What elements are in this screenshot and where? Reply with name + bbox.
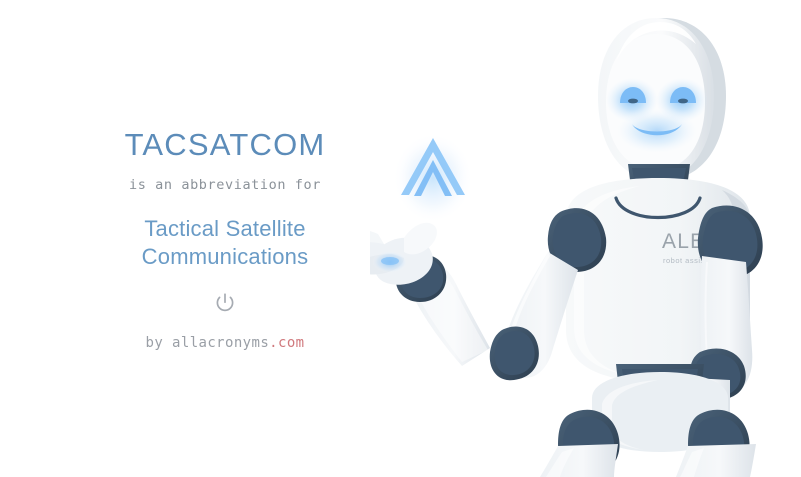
acronym-title: TACSATCOM	[125, 129, 326, 160]
text-panel: TACSATCOM is an abbreviation for Tactica…	[0, 0, 450, 477]
credit-tld[interactable]: .com	[269, 335, 304, 351]
definition-text: Tactical Satellite Communications	[142, 215, 309, 272]
credit-prefix: by	[146, 335, 164, 351]
abbreviation-note: is an abbreviation for	[129, 179, 321, 193]
credit-site-name[interactable]: allacronyms	[172, 335, 269, 351]
smile-glow	[617, 109, 697, 153]
credit-line[interactable]: by allacronyms.com	[146, 336, 305, 350]
robot-head	[598, 18, 726, 180]
power-icon	[214, 292, 236, 314]
definition-line-2: Communications	[142, 243, 309, 272]
definition-line-1: Tactical Satellite	[142, 215, 309, 244]
acronym-definition-page: TACSATCOM is an abbreviation for Tactica…	[0, 0, 801, 477]
